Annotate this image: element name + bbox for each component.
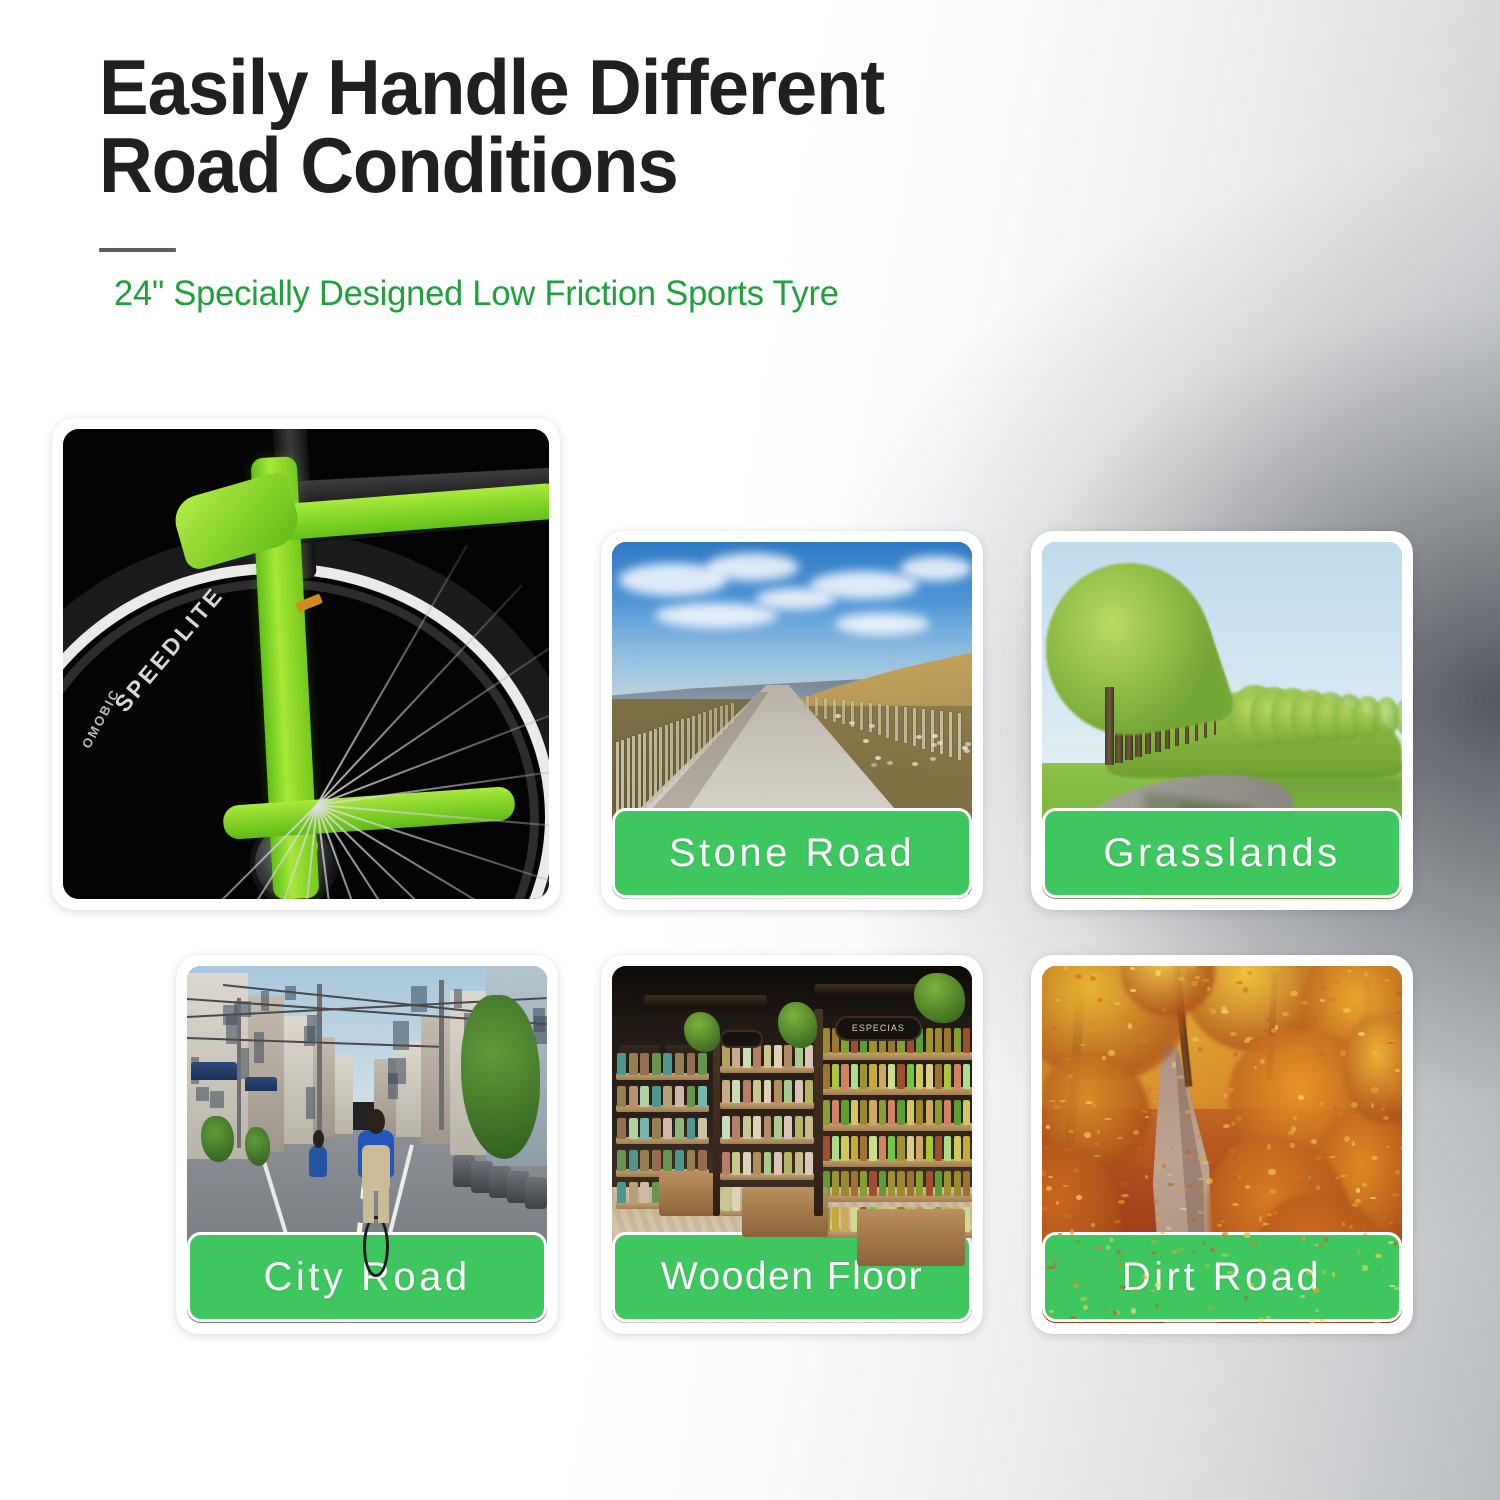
product-bottle	[823, 1064, 830, 1089]
product-bottle	[832, 1136, 839, 1161]
sheep	[930, 757, 936, 761]
product-bottle	[732, 1080, 740, 1103]
label-stone-road: Stone Road	[612, 808, 972, 898]
fence-post	[958, 713, 961, 759]
leaf-speck	[1223, 1124, 1230, 1128]
leaf-speck	[1153, 1091, 1157, 1093]
fence-post	[703, 712, 706, 750]
ceiling-lamp	[644, 995, 766, 1009]
product-bottle	[963, 1028, 970, 1053]
product-box	[640, 1150, 649, 1171]
leaf-speck	[1399, 1297, 1402, 1300]
leaf-speck	[1395, 1170, 1400, 1175]
leaf-speck	[1201, 966, 1205, 968]
leaf-speck	[1222, 1232, 1228, 1237]
leaf-speck	[1063, 966, 1069, 970]
leaf-speck	[1301, 1001, 1308, 1005]
leaf-speck	[1329, 997, 1336, 1003]
leaf-speck	[1375, 1254, 1382, 1258]
leaf-speck	[1090, 976, 1096, 981]
leaf-speck	[1321, 986, 1324, 991]
sheep	[835, 714, 841, 718]
leaf-speck	[1371, 1087, 1379, 1093]
building-window	[261, 991, 269, 1011]
leaf-speck	[1313, 1288, 1319, 1293]
product-bottle	[732, 1187, 740, 1210]
sky-cloud	[835, 613, 929, 634]
product-bottle	[926, 1136, 933, 1161]
fence-post	[638, 734, 641, 813]
product-bottle	[944, 1136, 951, 1161]
building-window	[411, 986, 428, 1013]
product-box	[687, 1053, 696, 1074]
leaf-speck	[1189, 966, 1196, 969]
parked-bicycle	[525, 1177, 547, 1209]
leaf-speck	[1147, 1087, 1151, 1093]
leaf-speck	[1130, 967, 1135, 970]
wooden-crate	[659, 1173, 717, 1216]
shop-awning	[191, 1062, 238, 1080]
product-bottle	[935, 1171, 942, 1196]
leaf-speck	[1295, 1176, 1301, 1179]
leaf-speck	[1223, 1093, 1228, 1098]
leaf-speck	[1109, 1238, 1114, 1242]
leaf-speck	[1185, 1150, 1190, 1155]
product-bottle	[926, 1100, 933, 1125]
leaf-speck	[1076, 1239, 1080, 1244]
product-bottle	[888, 1136, 895, 1161]
pedestrian	[309, 1145, 327, 1177]
fence-post	[731, 703, 734, 724]
product-bottle	[722, 1152, 730, 1175]
leaf-speck	[1268, 1169, 1276, 1174]
leaf-speck	[1206, 1178, 1213, 1184]
leaf-speck	[1230, 1032, 1237, 1036]
leaf-speck	[1153, 1267, 1161, 1269]
product-bottle	[743, 1152, 751, 1175]
product-bottle	[784, 1045, 792, 1068]
leaf-speck	[1320, 999, 1325, 1002]
leaf-speck	[1043, 1145, 1048, 1150]
leaf-speck	[1300, 1295, 1305, 1297]
product-bottle	[935, 1064, 942, 1089]
leaf-speck	[1362, 1265, 1368, 1270]
leaf-speck	[1047, 1266, 1055, 1269]
sheep	[887, 761, 893, 765]
leaf-speck	[1329, 1156, 1336, 1158]
hero-card-bike-wheel[interactable]: SPEEDLITE OMOBIC	[52, 418, 560, 910]
leaf-speck	[1135, 1161, 1143, 1164]
fence-post	[687, 718, 690, 767]
product-box	[617, 1086, 626, 1107]
product-bottle	[879, 1136, 886, 1161]
product-bottle	[764, 1080, 772, 1103]
leaf-speck	[1266, 1017, 1271, 1021]
product-box	[687, 1118, 696, 1139]
leaf-speck	[1321, 1270, 1327, 1274]
product-bottle	[805, 1045, 813, 1068]
leaf-speck	[1132, 1289, 1139, 1292]
leaf-speck	[1247, 971, 1251, 974]
product-bottle	[897, 1171, 904, 1196]
product-bottle	[954, 1028, 961, 1053]
product-feature-page: Easily Handle Different Road Conditions …	[0, 0, 1500, 1500]
leaf-speck	[1376, 1104, 1382, 1110]
leaf-speck	[1073, 1283, 1078, 1288]
leaf-speck	[1342, 1222, 1345, 1226]
leaf-speck	[1162, 1008, 1167, 1012]
leaf-speck	[1343, 1008, 1351, 1013]
product-bottle	[869, 1171, 876, 1196]
fence-post	[714, 708, 717, 740]
product-box	[617, 1118, 626, 1139]
fence-post	[676, 721, 679, 776]
product-box	[652, 1150, 661, 1171]
fence-post	[949, 712, 952, 757]
leaf-speck	[1185, 1110, 1191, 1114]
leaf-speck	[1192, 1037, 1199, 1041]
leaf-speck	[1311, 1139, 1317, 1144]
product-bottle	[774, 1045, 782, 1068]
product-bottle	[753, 1045, 761, 1068]
fence-post	[681, 719, 684, 771]
leaf-speck	[1290, 1143, 1294, 1149]
building-window	[210, 1091, 224, 1107]
shelf-sign: ESPECIAS	[835, 1016, 921, 1041]
leaf-speck	[1364, 972, 1368, 977]
leaf-speck	[1373, 1322, 1381, 1323]
leaf-speck	[1080, 1297, 1087, 1300]
leaf-speck	[1172, 1062, 1176, 1068]
product-bottle	[743, 1116, 751, 1139]
product-box	[663, 1150, 672, 1171]
product-bottle	[805, 1080, 813, 1103]
product-bottle	[944, 1171, 951, 1196]
shelf-upright	[713, 1037, 720, 1216]
product-bottle	[805, 1116, 813, 1139]
leaf-speck	[1221, 1253, 1229, 1257]
product-bottle	[926, 1171, 933, 1196]
leaf-speck	[1250, 1241, 1258, 1246]
leaf-speck	[1227, 1271, 1232, 1273]
leaf-speck	[1319, 1051, 1326, 1055]
card-city-road[interactable]: City Road	[176, 955, 558, 1334]
leaf-speck	[1248, 1283, 1254, 1287]
product-bottle	[954, 1136, 961, 1161]
product-bottle	[832, 1171, 839, 1196]
fence-post	[670, 723, 673, 782]
product-bottle	[774, 1116, 782, 1139]
shelf-upright	[814, 1009, 823, 1216]
product-bottle	[888, 1064, 895, 1089]
potted-plant	[245, 1127, 270, 1166]
sheep	[912, 762, 918, 766]
product-box	[663, 1086, 672, 1107]
utility-pole	[237, 998, 241, 1148]
product-bottle	[926, 1028, 933, 1053]
product-box	[675, 1053, 684, 1074]
leaf-speck	[1064, 1148, 1069, 1151]
fence-post	[654, 729, 657, 798]
product-box	[675, 1086, 684, 1107]
leaf-speck	[1198, 1189, 1203, 1194]
leaf-speck	[1355, 1199, 1361, 1203]
leaf-speck	[1400, 1118, 1402, 1123]
product-bottle	[944, 1028, 951, 1053]
fence-post	[698, 714, 701, 756]
leaf-speck	[1166, 1227, 1172, 1230]
fence-post	[806, 696, 809, 714]
product-bottle	[897, 1064, 904, 1089]
product-bottle	[935, 1028, 942, 1053]
product-bottle	[916, 1064, 923, 1089]
leaf-speck	[1229, 1148, 1235, 1152]
hero-scene: SPEEDLITE OMOBIC	[63, 429, 549, 899]
product-bottle	[795, 1080, 803, 1103]
product-bottle	[795, 1152, 803, 1175]
product-box	[629, 1053, 638, 1074]
product-bottle	[753, 1080, 761, 1103]
shelf-sign-small	[720, 1030, 763, 1048]
leaf-speck	[1192, 1218, 1196, 1221]
leaf-speck	[1150, 1240, 1156, 1243]
leaf-speck	[1131, 1308, 1135, 1314]
leaf-speck	[1137, 1147, 1140, 1151]
fence-post	[725, 705, 728, 730]
product-bottle	[743, 1080, 751, 1103]
leaf-speck	[1128, 1023, 1131, 1029]
leaf-speck	[1267, 1213, 1272, 1216]
sheep	[863, 739, 869, 743]
leaf-speck	[1228, 1088, 1233, 1092]
leaf-speck	[1162, 1164, 1165, 1169]
leaf-speck	[1395, 1069, 1399, 1072]
fence-post	[842, 700, 845, 725]
leaf-speck	[1206, 1305, 1213, 1311]
card-grasslands[interactable]: Grasslands	[1031, 531, 1413, 910]
leaf-speck	[1095, 1246, 1102, 1250]
product-bottle	[860, 1100, 867, 1125]
product-bottle	[823, 1136, 830, 1161]
building-window	[454, 989, 461, 1008]
leaf-speck	[1076, 1195, 1082, 1200]
hero-photo: SPEEDLITE OMOBIC	[63, 429, 549, 899]
fence-post	[632, 736, 635, 819]
leaf-speck	[1192, 1150, 1196, 1153]
leaf-speck	[1320, 1153, 1327, 1156]
leaf-speck	[1083, 1305, 1088, 1310]
leaf-speck	[1091, 1223, 1095, 1227]
fence-post	[659, 727, 662, 793]
product-bottle	[860, 1136, 867, 1161]
product-bottle	[841, 1207, 848, 1232]
leaf-speck	[1370, 1197, 1376, 1200]
fence-post	[895, 706, 898, 741]
product-bottle	[841, 1171, 848, 1196]
product-bottle	[860, 1064, 867, 1089]
building-window	[533, 1008, 545, 1032]
product-bottle	[774, 1152, 782, 1175]
leaf-speck	[1073, 1168, 1079, 1172]
product-box	[652, 1118, 661, 1139]
product-bottle	[963, 1064, 970, 1089]
leaf-speck	[1205, 1264, 1209, 1268]
page-title: Easily Handle Different Road Conditions	[99, 48, 1245, 204]
product-bottle	[841, 1136, 848, 1161]
leaf-speck	[1243, 987, 1247, 992]
building-window	[388, 1058, 406, 1084]
label-grasslands: Grasslands	[1042, 808, 1402, 898]
product-bottle	[764, 1152, 772, 1175]
leaf-speck	[1244, 1232, 1250, 1234]
product-bottle	[897, 1136, 904, 1161]
product-bottle	[888, 1100, 895, 1125]
leaf-speck	[1210, 1248, 1214, 1251]
leaf-speck	[1046, 1186, 1052, 1191]
card-wooden-floor[interactable]: ESPECIAS Wooden Floor	[601, 955, 983, 1334]
product-bottle	[916, 1171, 923, 1196]
leaf-speck	[1383, 1116, 1389, 1120]
leaf-speck	[1332, 1272, 1335, 1277]
leaf-speck	[1117, 1112, 1121, 1114]
leaf-speck	[1372, 1051, 1377, 1055]
leaf-speck	[1178, 977, 1185, 981]
leaf-speck	[1179, 1247, 1183, 1251]
leaf-speck	[1315, 1155, 1321, 1160]
product-bottle	[954, 1171, 961, 1196]
leaf-speck	[1044, 987, 1050, 993]
product-box	[629, 1118, 638, 1139]
leaf-speck	[1153, 1200, 1158, 1203]
product-bottle	[935, 1136, 942, 1161]
product-bottle	[832, 1064, 839, 1089]
leaf-speck	[1371, 1156, 1377, 1160]
product-bottle	[774, 1080, 782, 1103]
leaf-speck	[1269, 1189, 1277, 1194]
leaf-speck	[1333, 1105, 1337, 1110]
product-bottle	[954, 1100, 961, 1125]
leaf-speck	[1155, 1303, 1159, 1308]
leaf-speck	[1197, 1135, 1200, 1138]
product-box	[652, 1086, 661, 1107]
leaf-speck	[1152, 1251, 1156, 1255]
leaf-speck	[1133, 1130, 1139, 1135]
leaf-speck	[1068, 1075, 1072, 1077]
fence-post	[649, 731, 652, 803]
building-right	[421, 1016, 453, 1145]
product-box	[629, 1150, 638, 1171]
leaf-speck	[1058, 1233, 1062, 1236]
product-bottle	[888, 1171, 895, 1196]
product-box	[687, 1086, 696, 1107]
leaf-speck	[1113, 1311, 1117, 1315]
leaf-speck	[1233, 1052, 1238, 1057]
leaf-speck	[1149, 1289, 1155, 1292]
leaf-speck	[1391, 1193, 1399, 1197]
leaf-speck	[1134, 1052, 1138, 1057]
product-bottle	[764, 1045, 772, 1068]
leaf-speck	[1117, 1137, 1123, 1139]
leaf-speck	[1288, 1022, 1291, 1028]
leaf-speck	[1348, 1014, 1352, 1019]
product-bottle	[944, 1100, 951, 1125]
product-bottle	[832, 1100, 839, 1125]
leaf-speck	[1167, 1183, 1174, 1186]
product-bottle	[963, 1136, 970, 1161]
building-right	[396, 1041, 421, 1137]
leaf-speck	[1053, 1105, 1060, 1109]
leaf-speck	[1310, 1320, 1315, 1323]
leaf-speck	[1323, 1237, 1328, 1242]
card-stone-road[interactable]: Stone Road	[601, 531, 983, 910]
leaf-speck	[1108, 1050, 1115, 1056]
fence-post	[913, 708, 916, 746]
fence-post	[904, 707, 907, 743]
product-bottle	[907, 1136, 914, 1161]
header: Easily Handle Different Road Conditions …	[99, 48, 1299, 314]
product-bottle	[907, 1100, 914, 1125]
product-box	[675, 1150, 684, 1171]
product-bottle	[832, 1207, 839, 1232]
pedestrian-head	[313, 1130, 324, 1148]
sky-cloud	[655, 603, 777, 628]
product-bottle	[907, 1171, 914, 1196]
leaf-speck	[1356, 1188, 1360, 1192]
leaf-speck	[1298, 1095, 1304, 1100]
leaf-speck	[1187, 1155, 1192, 1157]
leaf-speck	[1320, 1102, 1324, 1106]
sheep	[916, 735, 922, 739]
product-box	[640, 1053, 649, 1074]
fence-post	[833, 699, 836, 722]
leaf-speck	[1171, 1145, 1174, 1150]
fence-post	[815, 697, 818, 717]
shop-awning	[245, 1077, 277, 1091]
sheep	[871, 763, 877, 767]
product-box	[640, 1182, 649, 1203]
product-box	[663, 1118, 672, 1139]
product-bottle	[732, 1116, 740, 1139]
product-box	[617, 1182, 626, 1203]
leaf-speck	[1195, 976, 1199, 979]
product-box	[629, 1182, 638, 1203]
product-bottle	[841, 1064, 848, 1089]
fence-post	[886, 705, 889, 738]
cyclist-head	[367, 1109, 385, 1134]
product-bottle	[869, 1100, 876, 1125]
leaf-speck	[1062, 1185, 1069, 1187]
cyclist-backpack	[362, 1145, 391, 1191]
product-bottle	[823, 1100, 830, 1125]
product-bottle	[907, 1064, 914, 1089]
page-subtitle: 24" Specially Designed Low Friction Spor…	[114, 274, 1281, 314]
leaf-speck	[1114, 1002, 1120, 1006]
leaf-speck	[1231, 1121, 1235, 1126]
fence-post	[643, 733, 646, 809]
potted-plant	[201, 1116, 233, 1162]
leaf-speck	[1318, 1243, 1323, 1247]
leaf-speck	[1394, 1287, 1400, 1289]
bicycle-wheel	[363, 1216, 388, 1277]
product-bottle	[916, 1136, 923, 1161]
leaf-speck	[1344, 1176, 1352, 1178]
product-bottle	[722, 1116, 730, 1139]
card-dirt-road[interactable]: Dirt Road	[1031, 955, 1413, 1334]
fence-post	[860, 702, 863, 730]
leaf-speck	[1217, 1224, 1222, 1227]
product-bottle	[732, 1152, 740, 1175]
product-bottle	[963, 1100, 970, 1125]
